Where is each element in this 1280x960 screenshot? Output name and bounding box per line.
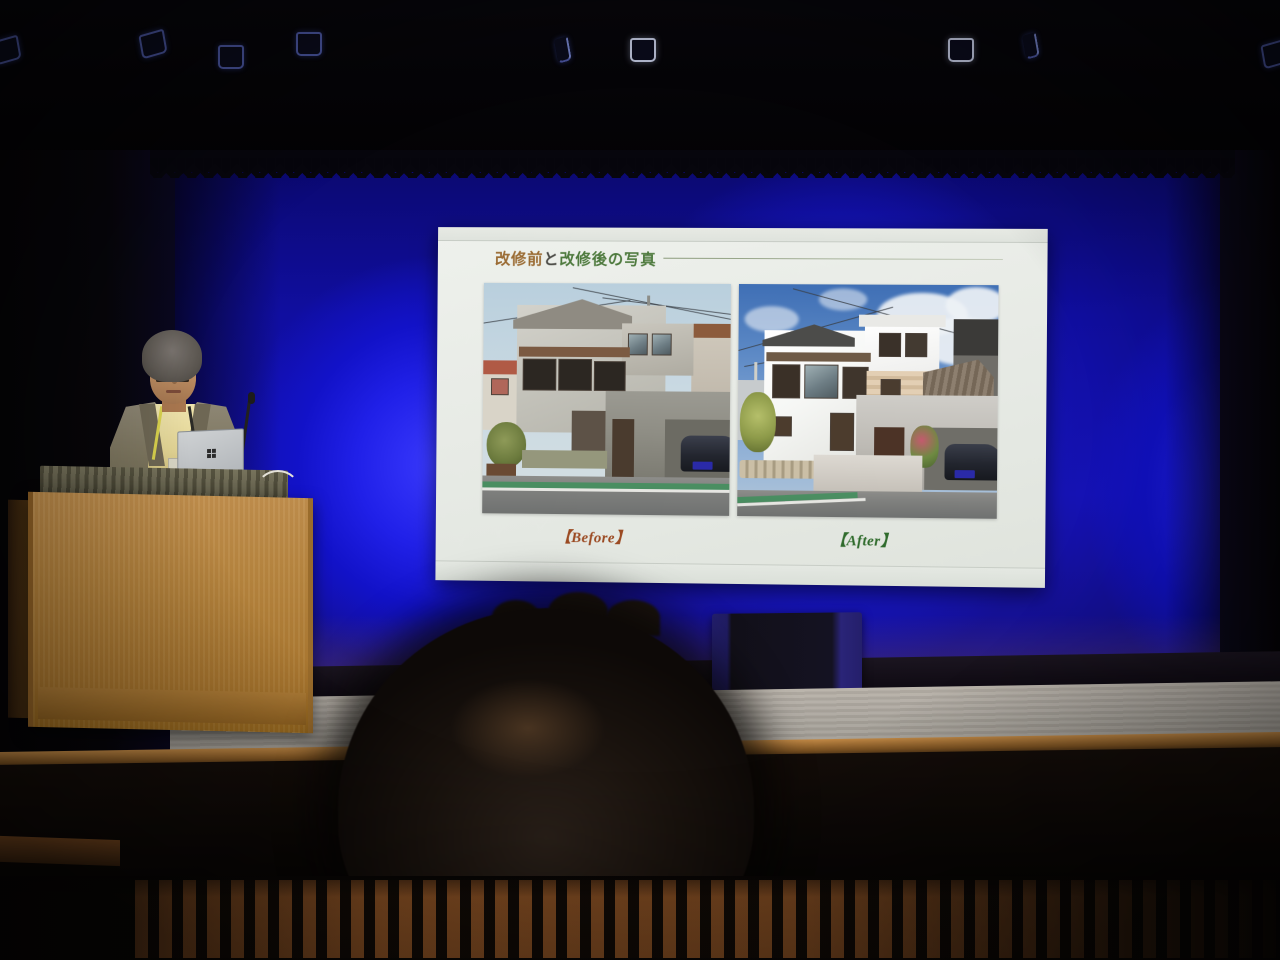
stage-light-icon <box>138 29 167 60</box>
left-wood-rail <box>0 836 120 866</box>
car-plate <box>693 462 713 470</box>
garden-shrub <box>486 422 526 468</box>
slide-title: 改修前と改修後の写真 <box>495 247 657 270</box>
neighbour-window <box>491 378 509 395</box>
stage-light-icon <box>0 35 22 66</box>
projected-slide: 改修前と改修後の写真 <box>435 227 1047 588</box>
stage-light-icon <box>630 38 656 62</box>
house-upper-window <box>879 333 901 357</box>
projection-screen: 改修前と改修後の写真 <box>435 227 1047 588</box>
house-upper-window <box>652 333 672 355</box>
car-plate <box>955 470 975 478</box>
stage-light-icon <box>554 36 572 64</box>
stage-light-icon <box>218 45 244 69</box>
stage-riser-box <box>712 612 862 696</box>
house-lower-window <box>830 413 854 451</box>
slide-title-rule <box>663 258 1002 260</box>
house-upper-window <box>628 333 648 355</box>
bay-window <box>523 359 557 391</box>
hedge <box>522 450 607 469</box>
power-cable <box>256 470 300 510</box>
lighting-truss <box>0 0 1280 170</box>
podium-plinth <box>38 687 306 725</box>
presentation-scene: 改修前と改修後の写真 <box>0 0 1280 960</box>
stage-light-icon <box>948 38 974 62</box>
garden-tree <box>740 392 776 452</box>
bay-window-hood <box>766 352 870 362</box>
windows-logo-icon <box>207 449 216 458</box>
driveway-apron <box>813 455 922 496</box>
house-upper-wing-roof <box>859 315 946 328</box>
presenter-hair <box>142 330 202 382</box>
slide-title-part-after: 改修後の写真 <box>559 251 656 268</box>
bay-window <box>772 364 800 398</box>
house-lower-window <box>774 416 792 436</box>
stage-light-icon <box>1022 32 1040 60</box>
photo-after <box>737 284 998 519</box>
bay-window <box>804 364 838 398</box>
stage-light-icon <box>296 32 322 56</box>
bay-window <box>558 359 592 391</box>
presenter-mouth <box>166 390 181 393</box>
caption-before: 【Before】 <box>556 526 630 548</box>
stage-light-icon <box>1260 39 1280 70</box>
caption-after: 【After】 <box>831 529 896 551</box>
photo-before <box>482 283 731 516</box>
cloud <box>745 306 799 332</box>
bay-window <box>594 361 626 391</box>
slide-title-connector: と <box>543 251 559 268</box>
stone-garden-wall <box>739 460 821 479</box>
house-upper-window <box>905 333 927 357</box>
screen-top-band <box>438 227 1048 243</box>
front-door <box>612 419 634 477</box>
microphone-icon <box>248 392 255 404</box>
wood-slat-shading <box>0 876 1280 960</box>
bay-window-hood <box>519 347 630 358</box>
slide-title-part-before: 改修前 <box>495 251 543 268</box>
